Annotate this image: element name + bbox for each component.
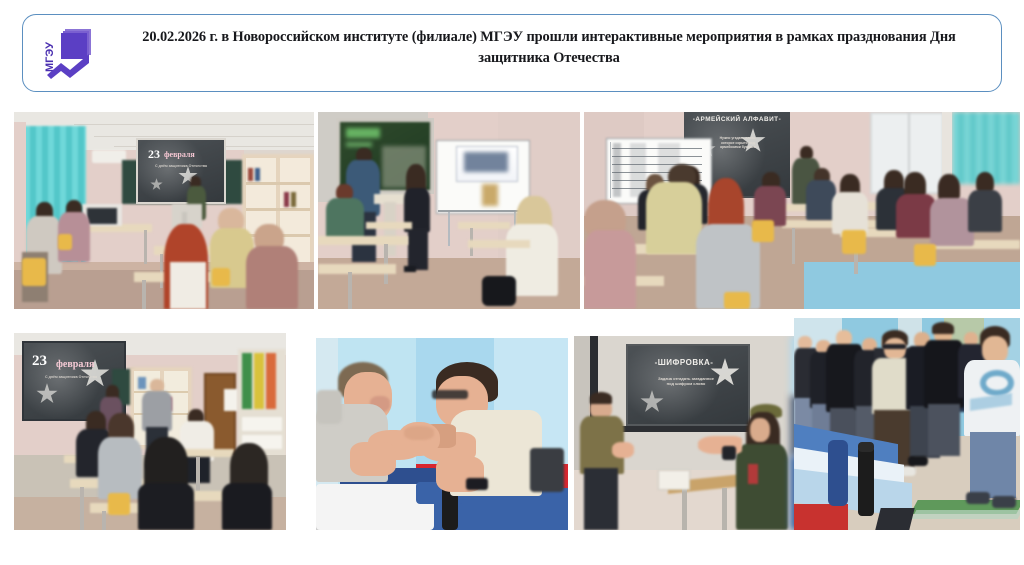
slide-text-month: февраля — [56, 359, 94, 370]
slide-text-subtitle: С днём защитника Отечества — [152, 164, 210, 169]
slide-text-subtitle: С днём защитника Отечества — [40, 375, 102, 380]
slide-text-army-alphabet-subtitle: Нужно угадать слово, которое скрыто под … — [714, 136, 762, 150]
photo-two-presenters-podium — [318, 112, 580, 309]
photo-army-alphabet-lecture: -АРМЕЙСКИЙ АЛФАВИТ- Нужно угадать слово,… — [584, 112, 1020, 309]
slide-text-army-alphabet-title: -АРМЕЙСКИЙ АЛФАВИТ- — [690, 116, 784, 124]
page-title: 20.02.2026 г. в Новороссийском институте… — [109, 27, 989, 69]
photo-classroom-23-february-second: 23 февраля С днём защитника Отечества — [14, 333, 286, 530]
svg-text:МГЭУ: МГЭУ — [44, 42, 56, 72]
mgeu-logo: МГЭУ — [37, 23, 99, 85]
slide-text-shifrovka-title: -ШИФРОВКА- — [642, 358, 726, 367]
photo-shifrovka-game: -ШИФРОВКА- Задача отгадать загаданное по… — [574, 336, 808, 530]
page-title-line-1: 20.02.2026 г. в Новороссийском институте… — [142, 29, 926, 45]
photo-classroom-presentation-23-february: 23 февраля С днём защитника Отечества — [14, 112, 314, 309]
slide-text-day: 23 — [32, 353, 47, 370]
slide-text-shifrovka-subtitle: Задача отгадать загаданное под шифром сл… — [658, 376, 714, 387]
slide-text-month: февраля — [164, 150, 195, 159]
photo-arm-wrestling-contest — [316, 338, 568, 530]
header-banner: МГЭУ 20.02.2026 г. в Новороссийском инст… — [22, 14, 1002, 92]
slide-text-day: 23 — [148, 147, 160, 162]
slide-canvas: МГЭУ 20.02.2026 г. в Новороссийском инст… — [0, 0, 1024, 565]
photo-participants-line — [794, 318, 1020, 530]
